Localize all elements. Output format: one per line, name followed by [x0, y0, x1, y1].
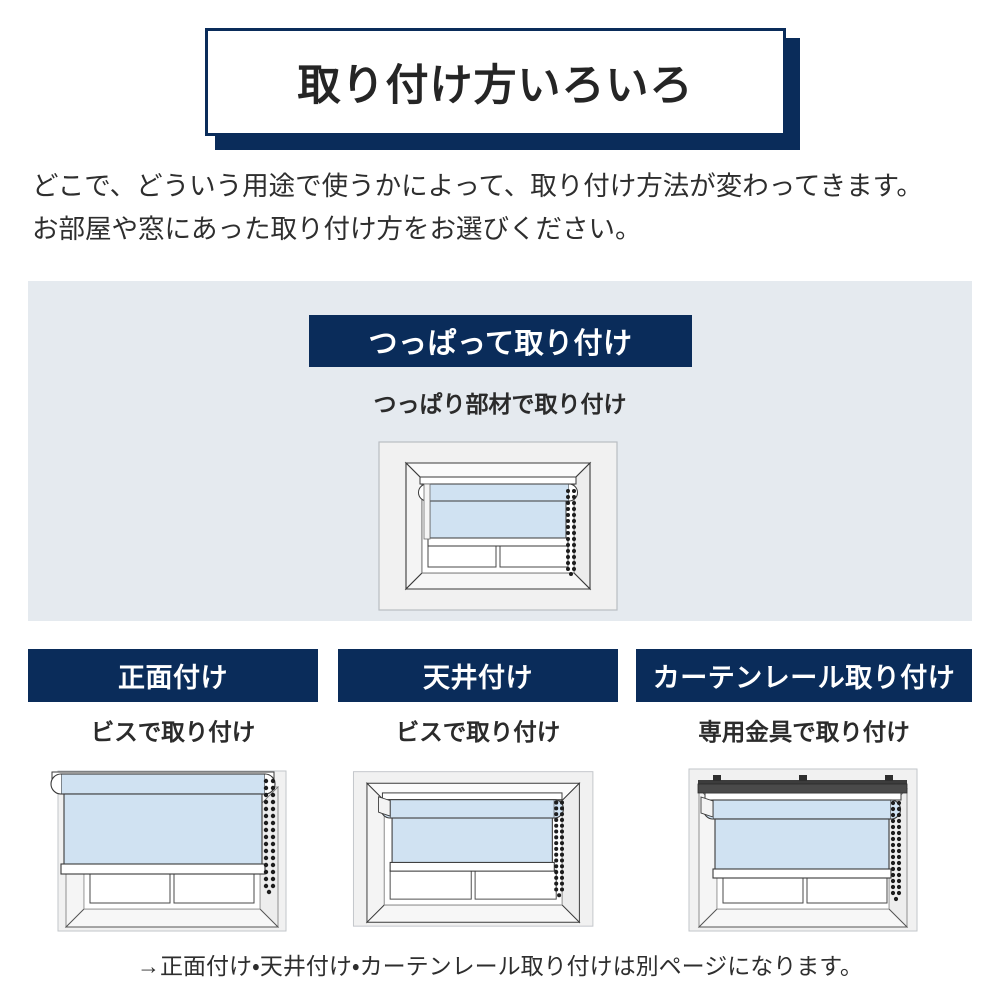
main-option-banner: つっぱって取り付け: [309, 315, 692, 367]
option-banner-label: 天井付け: [423, 656, 533, 695]
main-option-subtitle: つっぱり部材で取り付け: [28, 385, 972, 419]
option-subtitle-ceiling-mount: ビスで取り付け: [338, 713, 618, 747]
roller-blind-face-mount-illustration: [28, 759, 318, 934]
option-subtitle-curtain-rail-mount: 専用金具で取り付け: [636, 713, 972, 747]
lead-line-1: どこで、どういう用途で使うかによって、取り付け方法が変わってきます。: [32, 165, 972, 208]
option-banner-curtain-rail-mount: カーテンレール取り付け: [636, 649, 972, 702]
page-title-block: 取り付け方いろいろ: [205, 28, 790, 140]
roller-blind-ceiling-mount-illustration: [338, 759, 618, 934]
main-option-banner-label: つっぱって取り付け: [368, 320, 632, 362]
option-subtitle-face-mount: ビスで取り付け: [28, 713, 318, 747]
option-column-ceiling-mount: 天井付け ビスで取り付け: [338, 649, 618, 934]
page-root: 取り付け方いろいろ どこで、どういう用途で使うかによって、取り付け方法が変わって…: [0, 0, 1000, 1000]
option-banner-ceiling-mount: 天井付け: [338, 649, 618, 702]
roller-blind-tension-mount-illustration: [378, 441, 618, 611]
lead-line-2: お部屋や窓にあった取り付け方をお選びください。: [32, 208, 972, 251]
lead-paragraph: どこで、どういう用途で使うかによって、取り付け方法が変わってきます。 お部屋や窓…: [32, 165, 972, 251]
page-title-box: 取り付け方いろいろ: [205, 28, 786, 136]
footnote: →正面付け・天井付け・カーテンレール取り付けは別ページになります。: [0, 947, 1000, 981]
page-title: 取り付け方いろいろ: [298, 51, 694, 113]
option-banner-label: カーテンレール取り付け: [653, 656, 956, 695]
option-banner-face-mount: 正面付け: [28, 649, 318, 702]
option-column-curtain-rail-mount: カーテンレール取り付け 専用金具で取り付け: [636, 649, 972, 934]
option-banner-label: 正面付け: [118, 656, 228, 695]
roller-blind-curtain-rail-mount-illustration: [636, 759, 972, 934]
option-column-face-mount: 正面付け ビスで取り付け: [28, 649, 318, 934]
